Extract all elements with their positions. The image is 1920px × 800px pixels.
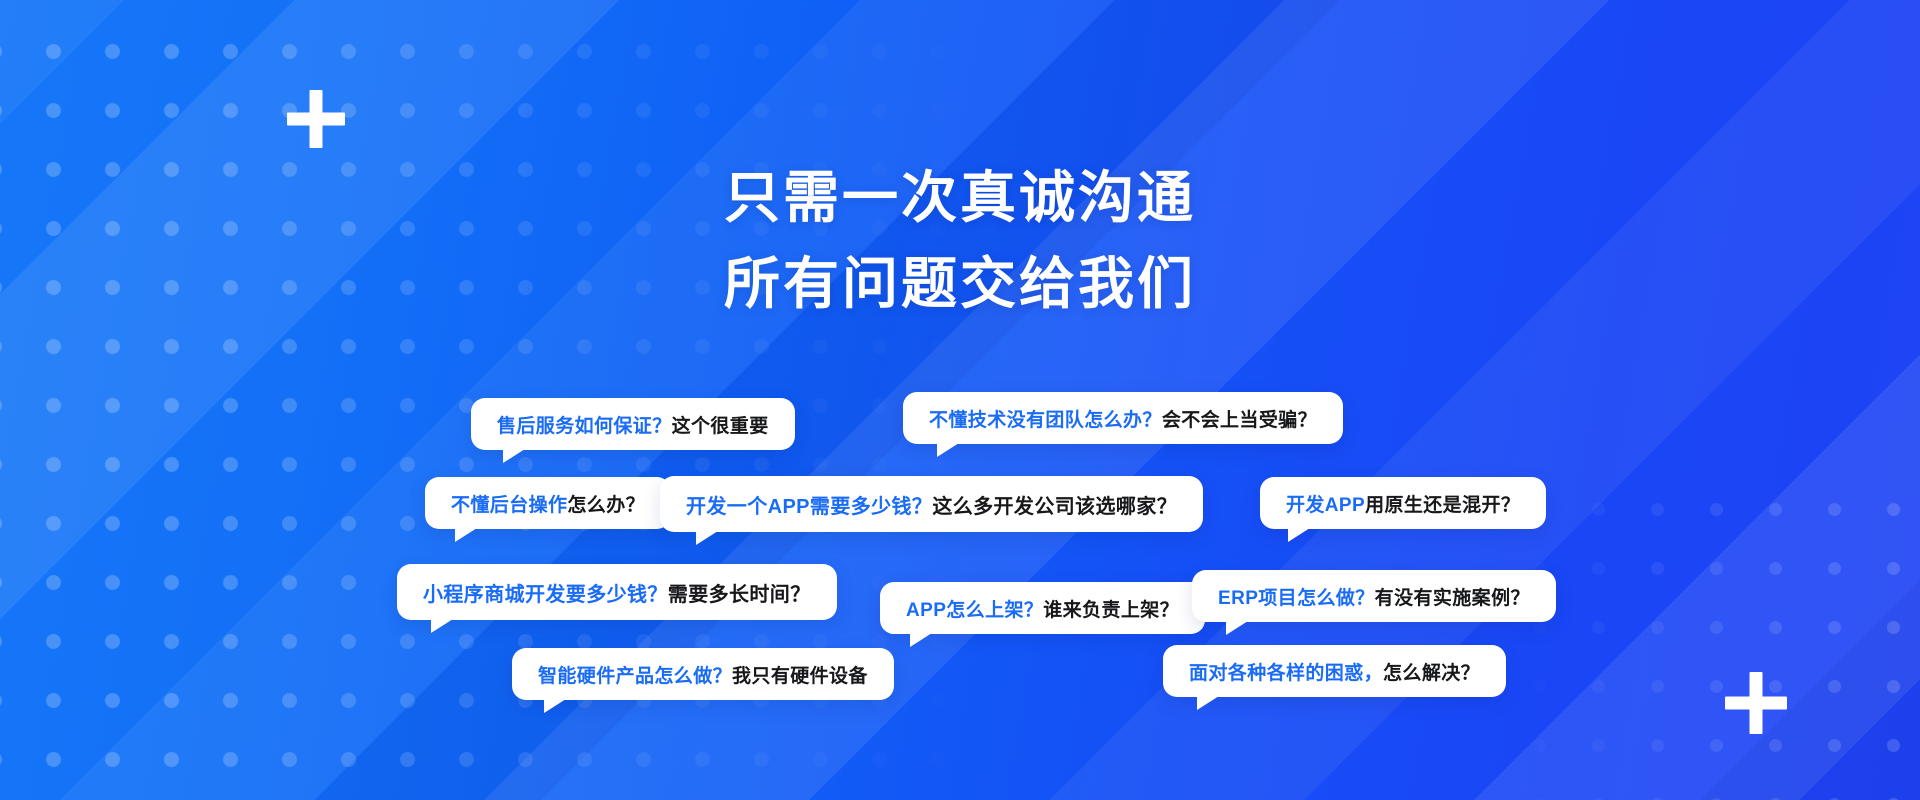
bubble-tail: [1226, 621, 1248, 635]
question-bubble[interactable]: 开发一个APP需要多少钱？ 这么多开发公司该选哪家？: [660, 476, 1203, 532]
bubble-tail: [544, 699, 566, 713]
bubble-answer-text: 有没有实施案例？: [1375, 583, 1530, 610]
bubble-answer-text: 会不会上当受骗？: [1162, 405, 1317, 432]
headline-line-1: 只需一次真诚沟通: [0, 160, 1920, 236]
bubble-tail: [431, 619, 453, 633]
dot-pattern-bottom-right: [1500, 470, 1920, 800]
promo-banner: 只需一次真诚沟通 所有问题交给我们 售后服务如何保证？ 这个很重要 不懂技术没有…: [0, 0, 1920, 800]
bubble-question-text: 智能硬件产品怎么做？: [538, 661, 732, 688]
page-title: 只需一次真诚沟通 所有问题交给我们: [0, 160, 1920, 321]
question-bubble[interactable]: 小程序商城开发要多少钱？ 需要多长时间？: [397, 564, 837, 620]
bubble-answer-text: 我只有硬件设备: [732, 661, 868, 688]
plus-icon: [287, 90, 345, 148]
question-bubble[interactable]: ERP项目怎么做？ 有没有实施案例？: [1192, 570, 1556, 622]
bubble-answer-text: 用原生还是混开？: [1365, 490, 1520, 517]
bubble-tail: [696, 531, 718, 545]
bubble-tail: [503, 449, 525, 463]
question-bubble[interactable]: 不懂技术没有团队怎么办？ 会不会上当受骗？: [903, 392, 1343, 444]
headline-line-2: 所有问题交给我们: [0, 246, 1920, 322]
bubble-tail: [937, 443, 959, 457]
plus-icon: [1725, 672, 1787, 734]
question-bubble[interactable]: 不懂后台操作 怎么办？: [425, 477, 671, 529]
bubble-question-text: 开发APP: [1286, 490, 1365, 517]
bubble-tail: [1288, 528, 1310, 542]
question-bubble[interactable]: 开发APP 用原生还是混开？: [1260, 477, 1546, 529]
bubble-question-text: 面对各种各样的困惑，: [1189, 658, 1383, 685]
bubble-answer-text: 需要多长时间？: [668, 578, 811, 607]
bubble-answer-text: 这个很重要: [672, 411, 769, 438]
bubble-question-text: 开发一个APP需要多少钱？: [686, 490, 932, 519]
question-bubble[interactable]: 售后服务如何保证？ 这个很重要: [471, 398, 795, 450]
bubble-question-text: APP怎么上架？: [906, 595, 1043, 622]
question-bubble[interactable]: APP怎么上架？ 谁来负责上架？: [880, 582, 1205, 634]
bubble-answer-text: 怎么办？: [567, 490, 645, 517]
bubble-question-text: 不懂后台操作: [451, 490, 567, 517]
bubble-question-text: 售后服务如何保证？: [497, 411, 672, 438]
bubble-question-text: 小程序商城开发要多少钱？: [423, 578, 668, 607]
question-bubble[interactable]: 智能硬件产品怎么做？ 我只有硬件设备: [512, 648, 894, 700]
bubble-tail: [910, 633, 932, 647]
bubble-question-text: ERP项目怎么做？: [1218, 583, 1375, 610]
question-bubble[interactable]: 面对各种各样的困惑， 怎么解决？: [1163, 645, 1506, 697]
bubble-tail: [455, 528, 477, 542]
bubble-answer-text: 谁来负责上架？: [1043, 595, 1179, 622]
bubble-answer-text: 这么多开发公司该选哪家？: [932, 490, 1177, 519]
bubble-tail: [1197, 696, 1219, 710]
bubble-question-text: 不懂技术没有团队怎么办？: [929, 405, 1162, 432]
bubble-answer-text: 怎么解决？: [1383, 658, 1480, 685]
